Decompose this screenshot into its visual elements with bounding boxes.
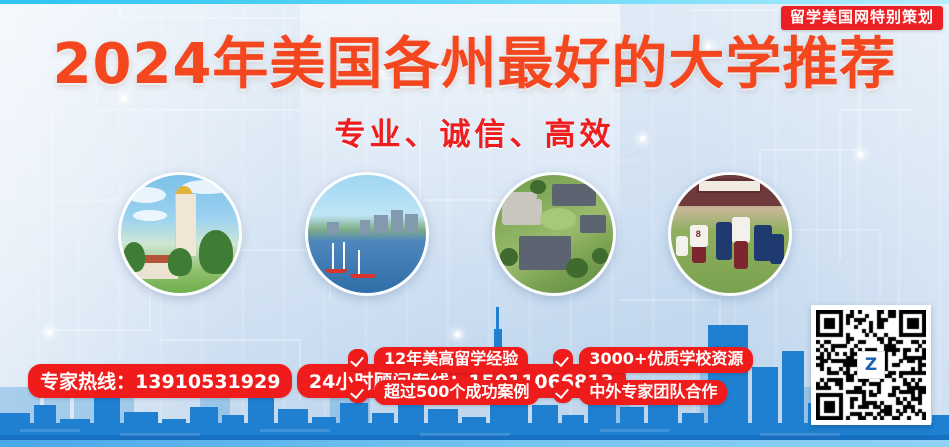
feature-item: 超过500个成功案例 — [348, 380, 539, 405]
check-icon — [553, 349, 573, 371]
page-subtitle: 专业、诚信、高效 — [0, 109, 949, 154]
feature-list: 12年美高留学经验 3000+优质学校资源 超过500个成功案例 中外专家团队合… — [348, 347, 753, 405]
feature-label: 3000+优质学校资源 — [579, 347, 753, 372]
photo-football-game: 8 — [668, 172, 792, 296]
feature-label: 12年美高留学经验 — [374, 347, 528, 372]
photo-circle-row: 8 — [0, 172, 949, 297]
promo-banner: 留学美国网特别策划 2024年美国各州最好的大学推荐 专业、诚信、高效 — [0, 0, 949, 447]
check-icon — [348, 349, 368, 371]
feature-item: 3000+优质学校资源 — [553, 347, 753, 372]
feature-item: 12年美高留学经验 — [348, 347, 539, 372]
top-accent-strip — [0, 0, 949, 4]
photo-aerial-campus — [492, 172, 616, 296]
feature-label: 中外专家团队合作 — [579, 380, 727, 405]
qr-center-logo: Z — [857, 351, 885, 379]
check-icon — [348, 381, 368, 403]
qr-logo-letter: Z — [865, 357, 877, 374]
feature-label: 超过500个成功案例 — [374, 380, 539, 405]
hotline-text: 专家热线：13910531929 — [28, 364, 292, 398]
page-title: 2024年美国各州最好的大学推荐 — [0, 36, 949, 95]
photo-waterfront-skyline — [305, 172, 429, 296]
photo-campus-tower — [118, 172, 242, 296]
bottom-accent-strip — [0, 440, 949, 447]
title-group: 2024年美国各州最好的大学推荐 专业、诚信、高效 — [0, 36, 949, 154]
check-icon — [553, 381, 573, 403]
qr-code[interactable]: Z — [811, 305, 931, 425]
feature-item: 中外专家团队合作 — [553, 380, 753, 405]
corner-badge: 留学美国网特别策划 — [781, 6, 943, 30]
